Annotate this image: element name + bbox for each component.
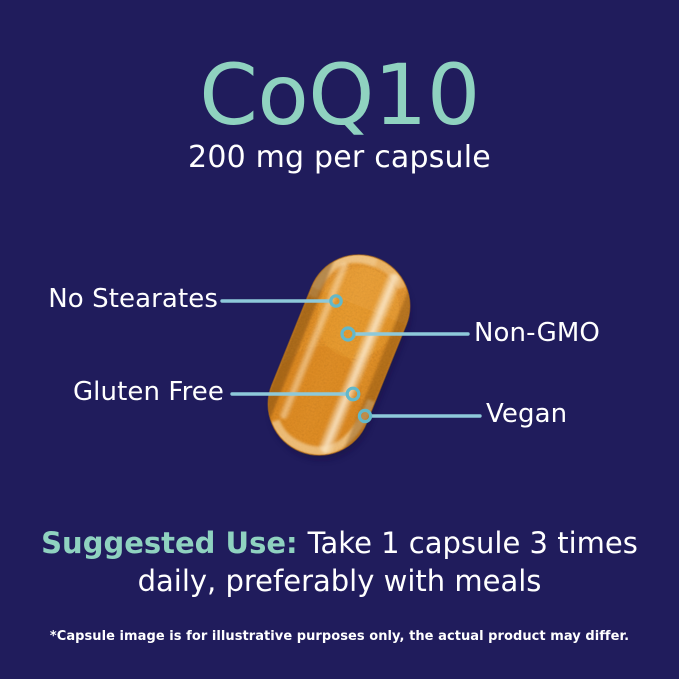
leader-markers [331, 296, 371, 422]
feature-label-vegan: Vegan [486, 399, 646, 429]
dose-subtitle: 200 mg per capsule [0, 139, 679, 177]
marker-vegan [359, 410, 370, 421]
leader-lines [222, 301, 480, 416]
feature-label-non-gmo: Non-GMO [474, 318, 664, 348]
marker-non-gmo [342, 328, 354, 340]
suggested-use-heading: Suggested Use: [41, 526, 297, 560]
feature-label-no-stearates: No Stearates [18, 284, 218, 314]
product-infographic: CoQ10 200 mg per capsule [0, 0, 679, 679]
suggested-use-block: Suggested Use:Take 1 capsule 3 times dai… [38, 524, 641, 600]
page-title: CoQ10 [0, 47, 679, 143]
marker-gluten-free [347, 388, 359, 400]
feature-label-gluten-free: Gluten Free [28, 377, 224, 407]
disclaimer-text: *Capsule image is for illustrative purpo… [0, 628, 679, 646]
marker-no-stearates [331, 296, 341, 306]
